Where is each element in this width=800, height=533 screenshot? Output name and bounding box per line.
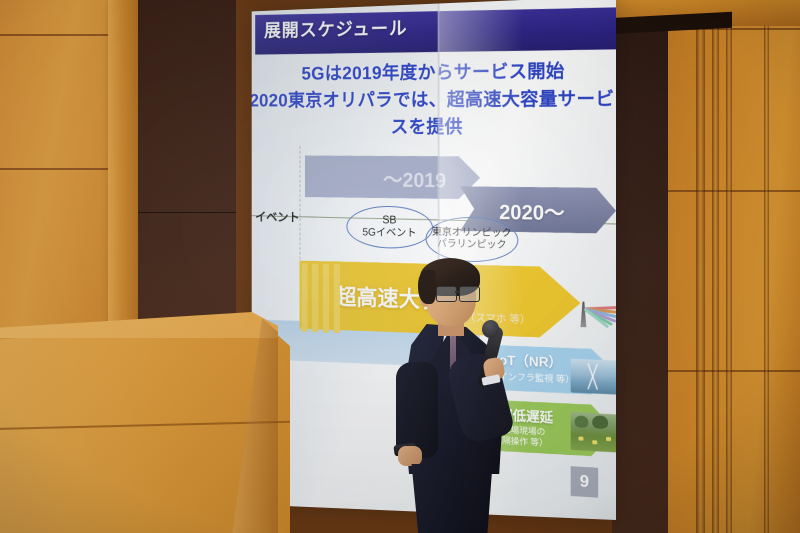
infrastructure-photo-thumbnail [571,359,616,395]
machine-icon-2 [592,440,597,444]
timeline-arrow-past-label: ～2019 [383,164,446,194]
timeline-row-label: イベント [255,207,299,226]
trousers [406,464,498,533]
antenna-mast-icon [580,301,586,327]
presentation-photo: 展開スケジュール 5Gは2019年度からサービス開始 2020東京オリパラでは、… [0,0,800,533]
event-callout-sb: SB 5Gイベント [346,205,433,249]
slide-title-line-2: 2020東京オリパラでは、超高速大容量サービスを提供 [252,86,616,141]
tree-icon-2 [592,415,608,429]
slide-title-line-1: 5Gは2019年度からサービス開始 [255,58,616,88]
speaker-figure [382,258,532,533]
timeline-arrow-future-label: 2020～ [499,196,564,226]
slide-header-title: 展開スケジュール [264,14,408,42]
bridge-tower-icon [579,363,609,390]
hand-holding-clicker [398,446,422,466]
field-photo-thumbnail [571,412,616,453]
slide-title-block: 5Gは2019年度からサービス開始 2020東京オリパラでは、超高速大容量サービ… [252,54,616,144]
timeline-arrow-past: ～2019 [305,155,480,199]
event-callout-sb-line1: SB [382,215,396,228]
event-callout-olympics-line2: パラリンピック [437,239,507,252]
event-callout-sb-line2: 5Gイベント [362,227,416,240]
machine-icon-1 [579,436,584,440]
sideburn [418,270,436,304]
tree-icon-1 [575,415,589,428]
glasses-bridge [455,291,460,293]
eyeglasses-icon [436,286,478,301]
slide-page-number: 9 [571,466,599,497]
lens-left [436,286,457,302]
beamforming-antenna-icon [571,285,616,345]
timeline-region: イベント ～2019 2020～ SB 5Gイベント 東京オリンピック パラリン… [252,146,616,276]
machine-icon-3 [606,437,611,441]
service-band-stripes [300,263,341,333]
dark-door-panel [612,30,668,533]
lens-right [459,286,480,302]
